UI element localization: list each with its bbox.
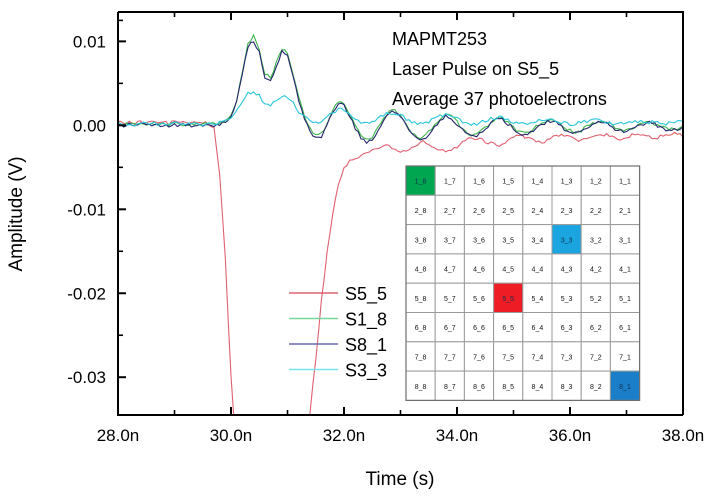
y-tick-label: 0.00 [73, 116, 106, 135]
pixel-cell-label-8_7: 8_7 [444, 384, 456, 391]
pixel-cell-label-3_3: 3_3 [561, 237, 573, 244]
legend-label-S3_3: S3_3 [345, 361, 387, 382]
pixel-cell-label-6_8: 6_8 [415, 325, 427, 332]
pixel-cell-label-6_6: 6_6 [473, 325, 485, 332]
y-tick-label: -0.02 [67, 284, 106, 303]
pixel-cell-label-3_2: 3_2 [590, 237, 602, 244]
y-axis-label: Amplitude (V) [6, 156, 27, 271]
pixel-cell-label-7_5: 7_5 [502, 354, 514, 361]
pixel-cell-label-4_5: 4_5 [502, 267, 514, 274]
pixel-cell-label-1_5: 1_5 [502, 179, 514, 186]
pixel-cell-label-5_1: 5_1 [619, 296, 631, 303]
pixel-cell-label-4_3: 4_3 [561, 267, 573, 274]
pixel-cell-label-7_4: 7_4 [532, 354, 544, 361]
pixel-cell-label-4_4: 4_4 [532, 267, 544, 274]
pixel-cell-label-8_8: 8_8 [415, 384, 427, 391]
pixel-map-grid: 1_81_71_61_51_41_31_21_12_82_72_62_52_42… [406, 166, 640, 400]
pixel-cell-label-1_7: 1_7 [444, 179, 456, 186]
pixel-cell-label-4_2: 4_2 [590, 267, 602, 274]
pixel-cell-label-2_3: 2_3 [561, 208, 573, 215]
pixel-cell-label-8_6: 8_6 [473, 384, 485, 391]
pixel-cell-label-7_3: 7_3 [561, 354, 573, 361]
pixel-cell-label-8_2: 8_2 [590, 384, 602, 391]
x-tick-label: 36.0n [549, 426, 592, 445]
pixel-cell-label-5_6: 5_6 [473, 296, 485, 303]
pixel-cell-label-4_8: 4_8 [415, 267, 427, 274]
x-tick-label: 32.0n [323, 426, 366, 445]
pixel-cell-label-7_8: 7_8 [415, 354, 427, 361]
pixel-cell-label-2_6: 2_6 [473, 208, 485, 215]
x-tick-label: 30.0n [210, 426, 253, 445]
x-tick-label: 38.0n [662, 426, 705, 445]
pixel-cell-label-1_3: 1_3 [561, 179, 573, 186]
pixel-cell-label-4_1: 4_1 [619, 267, 631, 274]
pixel-cell-label-4_7: 4_7 [444, 267, 456, 274]
legend-label-S1_8: S1_8 [345, 310, 387, 331]
pixel-cell-label-2_5: 2_5 [502, 208, 514, 215]
pixel-cell-label-3_7: 3_7 [444, 237, 456, 244]
y-tick-label: -0.03 [67, 368, 106, 387]
annotation-line: Laser Pulse on S5_5 [392, 59, 559, 80]
pixel-cell-label-6_2: 6_2 [590, 325, 602, 332]
pixel-cell-label-6_1: 6_1 [619, 325, 631, 332]
pixel-cell-label-5_2: 5_2 [590, 296, 602, 303]
pixel-cell-label-1_6: 1_6 [473, 179, 485, 186]
pixel-cell-label-6_3: 6_3 [561, 325, 573, 332]
annotation-line: Average 37 photoelectrons [392, 89, 607, 109]
pixel-cell-label-3_5: 3_5 [502, 237, 514, 244]
pixel-cell-label-8_5: 8_5 [502, 384, 514, 391]
oscilloscope-figure: 28.0n30.0n32.0n34.0n36.0n38.0n 0.010.00-… [0, 0, 720, 499]
pixel-cell-label-3_4: 3_4 [532, 237, 544, 244]
pixel-cell-label-5_7: 5_7 [444, 296, 456, 303]
pixel-cell-label-6_7: 6_7 [444, 325, 456, 332]
x-tick-label: 34.0n [436, 426, 479, 445]
pixel-cell-label-4_6: 4_6 [473, 267, 485, 274]
pixel-cell-label-3_8: 3_8 [415, 237, 427, 244]
pixel-cell-label-2_7: 2_7 [444, 208, 456, 215]
pixel-cell-label-7_2: 7_2 [590, 354, 602, 361]
pixel-cell-label-6_5: 6_5 [502, 325, 514, 332]
pixel-cell-label-2_4: 2_4 [532, 208, 544, 215]
pixel-cell-label-5_4: 5_4 [532, 296, 544, 303]
pixel-cell-label-7_1: 7_1 [619, 354, 631, 361]
pixel-cell-label-8_3: 8_3 [561, 384, 573, 391]
pixel-cell-label-1_2: 1_2 [590, 179, 602, 186]
x-tick-label: 28.0n [97, 426, 140, 445]
annotation-line: MAPMT253 [392, 29, 487, 49]
pixel-cell-label-2_8: 2_8 [415, 208, 427, 215]
pixel-cell-label-5_5: 5_5 [502, 296, 514, 303]
pixel-cell-label-8_1: 8_1 [619, 384, 631, 391]
legend-label-S5_5: S5_5 [345, 284, 387, 305]
pixel-cell-label-6_4: 6_4 [532, 325, 544, 332]
pixel-cell-label-2_2: 2_2 [590, 208, 602, 215]
pixel-cell-label-3_6: 3_6 [473, 237, 485, 244]
pixel-cell-label-2_1: 2_1 [619, 208, 631, 215]
y-tick-label: -0.01 [67, 200, 106, 219]
pixel-cell-label-7_7: 7_7 [444, 354, 456, 361]
pixel-cell-label-3_1: 3_1 [619, 237, 631, 244]
pixel-cell-label-7_6: 7_6 [473, 354, 485, 361]
pixel-cell-label-1_4: 1_4 [532, 179, 544, 186]
pixel-cell-label-5_3: 5_3 [561, 296, 573, 303]
y-tick-label: 0.01 [73, 32, 106, 51]
pixel-cell-label-1_1: 1_1 [619, 179, 631, 186]
pixel-cell-label-8_4: 8_4 [532, 384, 544, 391]
x-axis-label: Time (s) [366, 469, 435, 490]
pixel-cell-label-1_8: 1_8 [415, 179, 427, 186]
pixel-cell-label-5_8: 5_8 [415, 296, 427, 303]
legend-label-S8_1: S8_1 [345, 335, 387, 356]
